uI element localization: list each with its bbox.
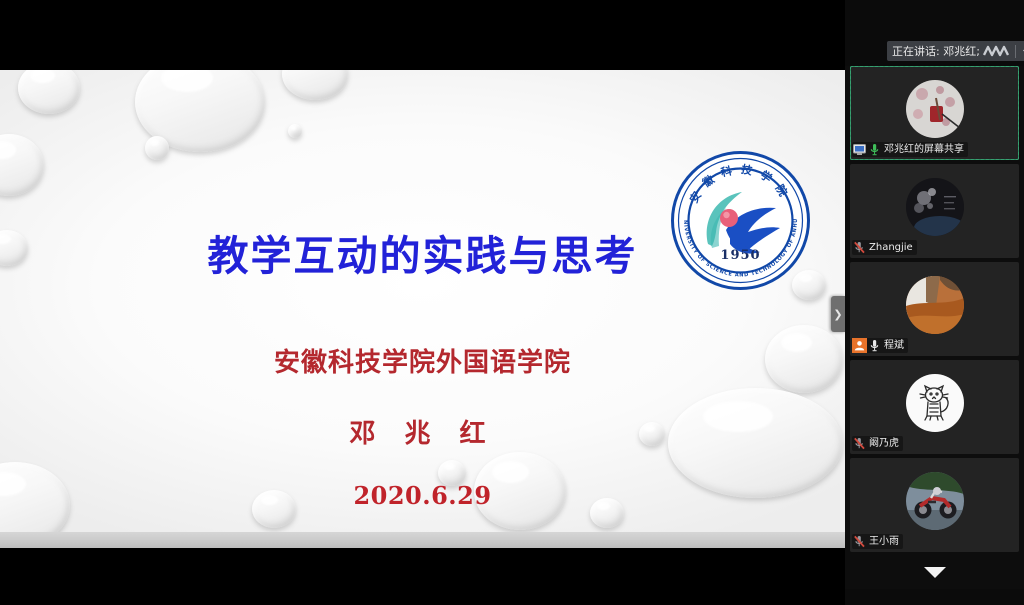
scroll-down-button[interactable] <box>845 564 1024 583</box>
pill-divider <box>1015 45 1016 58</box>
participant-tile[interactable]: 邓兆红的屏幕共享 <box>850 66 1019 160</box>
water-drop <box>288 124 302 138</box>
participant-name: 邓兆红的屏幕共享 <box>881 145 964 155</box>
filmstrip-footer <box>845 589 1024 605</box>
avatar <box>906 276 964 334</box>
participant-tiles[interactable]: 邓兆红的屏幕共享 <box>845 66 1024 561</box>
presentation-slide: 安徽科技学院 UNIVERSITY OF SCIENCE AND TECHNOL… <box>0 70 845 548</box>
filmstrip-header: 正在讲话: 邓兆红; <box>845 0 1024 66</box>
microphone-on-icon <box>867 143 881 156</box>
chevron-down-icon <box>922 564 948 583</box>
microphone-muted-icon <box>852 535 866 548</box>
slide-footer-band <box>0 532 845 548</box>
participant-tile[interactable]: 王小雨 <box>850 458 1019 552</box>
participant-tile[interactable]: 阚乃虎 <box>850 360 1019 454</box>
screen-share-icon <box>852 142 867 157</box>
active-speaker-pill: 正在讲话: 邓兆红; <box>887 41 1024 61</box>
participant-name: 程斌 <box>881 341 904 351</box>
panel-collapse-toggle[interactable]: ❯ <box>831 296 845 332</box>
participant-name-bar: 王小雨 <box>852 534 903 549</box>
participant-tile[interactable]: Zhangjie <box>850 164 1019 258</box>
host-badge-icon <box>852 338 867 353</box>
active-speaker-label: 正在讲话: 邓兆红; <box>892 46 980 57</box>
participant-name: Zhangjie <box>866 243 913 253</box>
participant-name-bar: 阚乃虎 <box>852 436 903 451</box>
participant-name: 王小雨 <box>866 537 899 547</box>
slide-title: 教学互动的实践与思考 <box>0 222 845 282</box>
slide-date: 2020.6.29 <box>0 481 845 510</box>
avatar <box>906 472 964 530</box>
avatar <box>906 374 964 432</box>
water-drop <box>145 136 169 160</box>
participant-tile[interactable]: 程斌 <box>850 262 1019 356</box>
shared-screen-viewer[interactable]: 安徽科技学院 UNIVERSITY OF SCIENCE AND TECHNOL… <box>0 0 845 605</box>
participant-name: 阚乃虎 <box>866 439 899 449</box>
microphone-muted-icon <box>852 437 866 450</box>
slide-organization: 安徽科技学院外国语学院 <box>0 342 845 379</box>
chevron-right-icon: ❯ <box>833 309 842 320</box>
avatar <box>906 178 964 236</box>
microphone-on-icon <box>867 339 881 352</box>
slide-presenter-name: 邓 兆 红 <box>0 413 845 450</box>
avatar <box>906 80 964 138</box>
participant-name-bar: 程斌 <box>852 338 908 353</box>
participant-name-bar: 邓兆红的屏幕共享 <box>852 142 968 157</box>
participant-name-bar: Zhangjie <box>852 240 917 255</box>
microphone-muted-icon <box>852 241 866 254</box>
audio-wave-icon <box>983 45 1009 57</box>
zoom-meeting-window: 安徽科技学院 UNIVERSITY OF SCIENCE AND TECHNOL… <box>0 0 1024 605</box>
participants-filmstrip: 正在讲话: 邓兆红; <box>845 0 1024 605</box>
